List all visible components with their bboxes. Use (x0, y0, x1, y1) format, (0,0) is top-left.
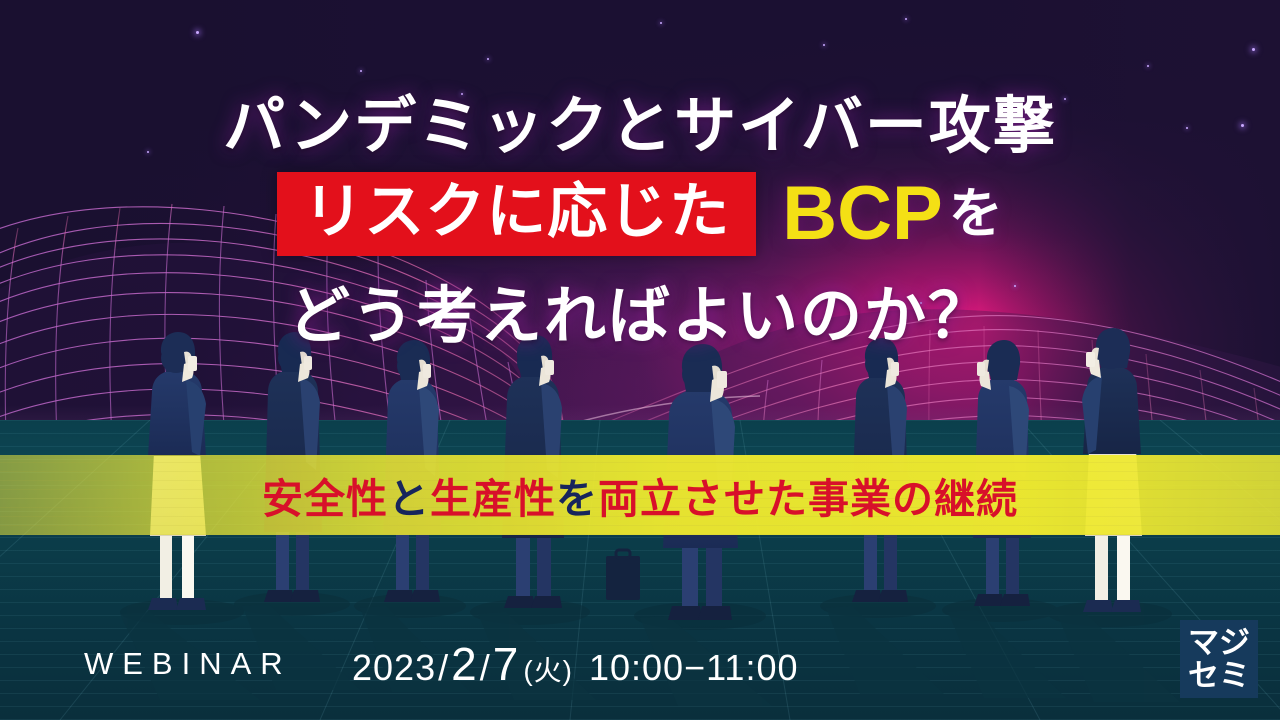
subtitle-part-productivity: 生産性 (430, 465, 556, 525)
subtitle-part-and: と (388, 465, 430, 525)
headline-line-1: パンデミックとサイバー攻撃 (0, 78, 1280, 162)
subtitle-part-wo: を (556, 465, 598, 525)
date-separator-1: / (438, 647, 449, 689)
date-day: 7 (493, 637, 520, 691)
event-datetime: 2023 / 2 / 7 (火) 10:00−11:00 (352, 637, 799, 691)
date-separator-2: / (480, 647, 491, 689)
majiseminar-logo[interactable]: マジ セミ (1180, 620, 1258, 698)
event-time: 10:00−11:00 (589, 647, 799, 689)
footer-bar: WEBINAR 2023 / 2 / 7 (火) 10:00−11:00 (0, 636, 1280, 692)
headline-line-3: どう考えればよいのか？ (0, 268, 1280, 352)
headline-line-2: リスクに応じた BCP を (0, 166, 1280, 262)
headline-bcp-accent: BCP (782, 176, 942, 252)
date-month: 2 (451, 637, 478, 691)
logo-row-2: セミ (1188, 660, 1250, 691)
subtitle-text: 安全性 と 生産性 を 両立させた事業の継続 (0, 455, 1280, 535)
headline-risk-highlight: リスクに応じた (277, 172, 756, 256)
date-year: 2023 (352, 647, 436, 689)
headline-line-2-suffix: を (949, 187, 1003, 241)
date-day-of-week: (火) (523, 649, 573, 689)
subtitle-part-continuity: 両立させた事業の継続 (598, 465, 1018, 525)
subtitle-part-safety: 安全性 (262, 465, 388, 525)
logo-row-1: マジ (1188, 627, 1250, 658)
headline-block: パンデミックとサイバー攻撃 リスクに応じた BCP を どう考えればよいのか？ (0, 78, 1280, 352)
webinar-label: WEBINAR (84, 646, 292, 682)
webinar-banner: 安全性 と 生産性 を 両立させた事業の継続 パンデミックとサイバー攻撃 リスク… (0, 0, 1280, 720)
